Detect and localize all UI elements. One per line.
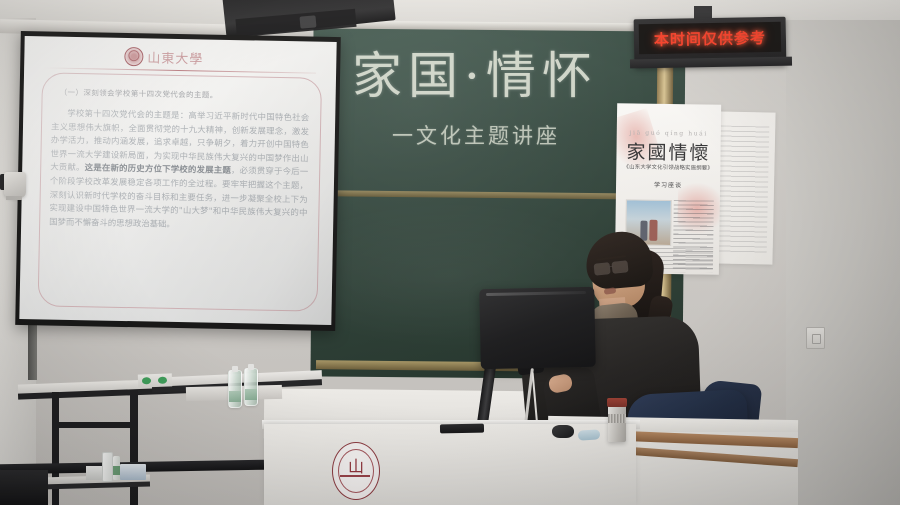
water-bottle xyxy=(244,368,258,406)
wall-speaker-bracket xyxy=(6,196,22,200)
slide-logo: 山東大學 xyxy=(124,44,244,70)
university-seal-icon xyxy=(124,46,143,65)
poster-subtitle: 《山东大学文化引领战略实施纲要》 xyxy=(618,163,718,172)
poster-subtitle-secondary: 学习座谈 xyxy=(618,179,718,189)
keyboard[interactable] xyxy=(440,424,484,434)
desk-green-markers xyxy=(138,373,172,387)
stage-riser xyxy=(0,470,48,505)
face-mask xyxy=(578,429,601,441)
eyeglasses-icon xyxy=(594,260,629,274)
desktop-monitor[interactable] xyxy=(479,287,596,369)
poster-title: 家國情懷 xyxy=(616,137,720,165)
water-bottle xyxy=(228,370,242,408)
wall-socket[interactable] xyxy=(806,327,825,349)
sanitizer-bottle xyxy=(113,456,120,480)
blackboard-title: 家国·情怀 xyxy=(352,36,582,120)
supply-box xyxy=(120,464,146,480)
thermos-band xyxy=(608,414,626,423)
podium-emblem-glyph: 山 xyxy=(344,458,366,476)
slide-body-tail: ，必须贯穿于今后一个阶段学校改革发展稳定各项工作的全过程。要牢牢把握这个主题，深… xyxy=(49,165,308,228)
lecture-hall-photo: 家国·情怀 一文化主题讲座 山東大學 （一）深刻领会学校第十四次党代会的主题。 … xyxy=(0,0,900,505)
desk-leg-right xyxy=(130,390,138,505)
poster-pinyin: jiā guó qíng huái xyxy=(617,129,721,137)
spray-bottle xyxy=(102,452,113,482)
podium-emblem-bar xyxy=(340,475,370,477)
thermos-cap xyxy=(607,398,627,407)
projection-screen: 山東大學 （一）深刻领会学校第十四次党代会的主题。 学校第十四次党代会的主题是：… xyxy=(15,31,341,331)
notice-text-lines xyxy=(717,125,770,254)
blackboard-subtitle: 一文化主题讲座 xyxy=(392,120,592,150)
wall-speaker xyxy=(4,172,26,198)
computer-mouse[interactable] xyxy=(552,425,574,438)
cleaning-supplies xyxy=(86,452,150,482)
desk-crossbar xyxy=(55,422,135,428)
slide-body-bold: 这是在新的历史方位下学校的发展主题 xyxy=(85,163,232,176)
led-sign-display: 本时间仅供参考 xyxy=(639,22,782,54)
right-wall xyxy=(786,20,900,505)
projector-lens xyxy=(300,15,317,28)
slide-surface: 山東大學 （一）深刻领会学校第十四次党代会的主题。 学校第十四次党代会的主题是：… xyxy=(19,36,336,325)
slide-wordmark: 山東大學 xyxy=(147,47,203,67)
led-sign-text: 本时间仅供参考 xyxy=(654,27,766,50)
slide-paragraph: 学校第十四次党代会的主题是：高举习近平新时代中国特色社会主义思想伟大旗帜，全面贯… xyxy=(49,107,309,234)
